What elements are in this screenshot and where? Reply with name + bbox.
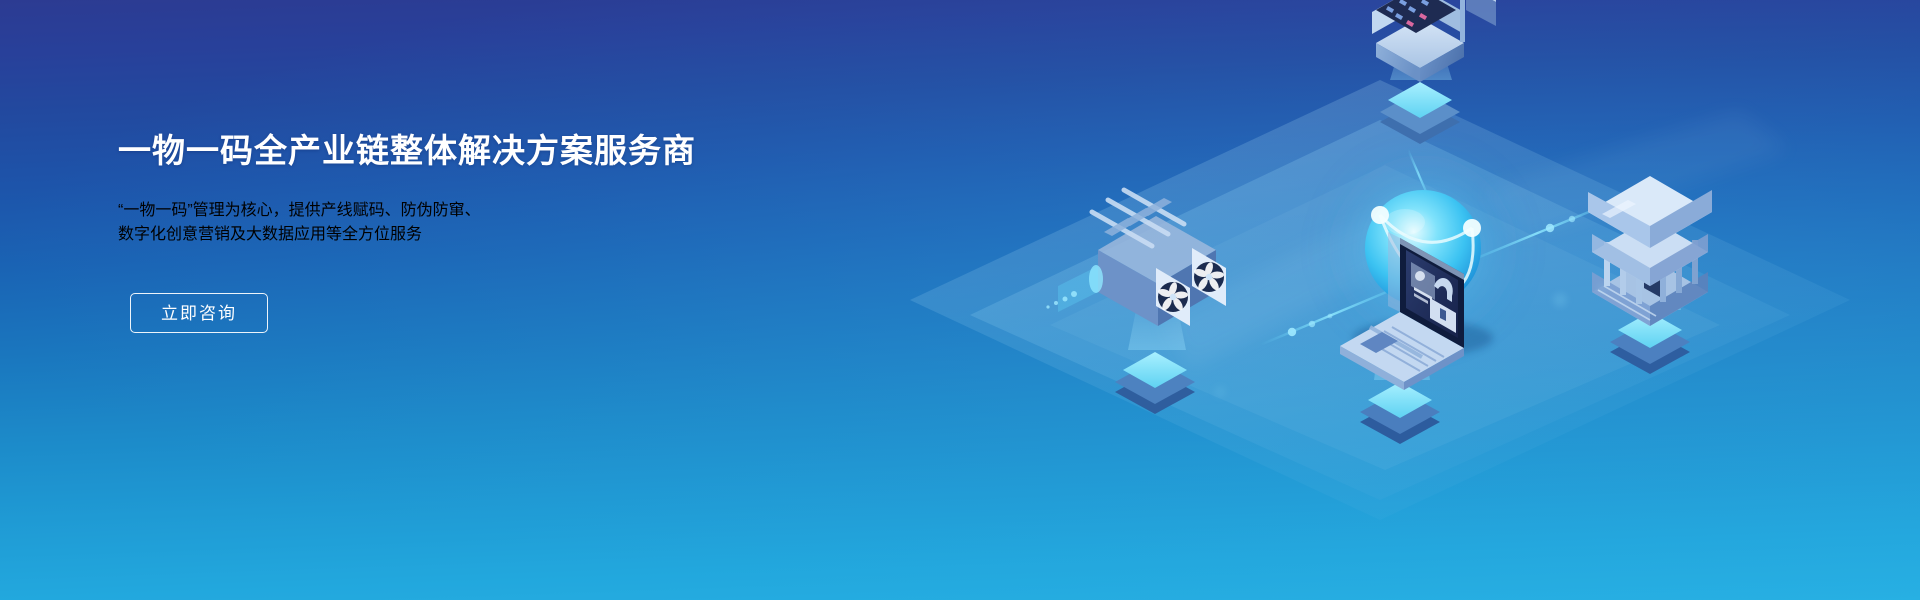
hero-subtitle-line-1: “一物一码”管理为核心，提供产线赋码、防伪防窜、 xyxy=(118,196,758,220)
consult-now-button[interactable]: 立即咨询 xyxy=(130,293,268,333)
hero-banner: 一物一码全产业链整体解决方案服务商 “一物一码”管理为核心，提供产线赋码、防伪防… xyxy=(0,0,1920,600)
hero-illustration xyxy=(860,0,1920,600)
hero-subtitle-line-2: 数字化创意营销及大数据应用等全方位服务 xyxy=(118,220,758,244)
hero-copy-block: 一物一码全产业链整体解决方案服务商 “一物一码”管理为核心，提供产线赋码、防伪防… xyxy=(118,128,758,333)
page-title: 一物一码全产业链整体解决方案服务商 xyxy=(118,128,758,174)
pos-terminal-icon xyxy=(1372,0,1496,144)
